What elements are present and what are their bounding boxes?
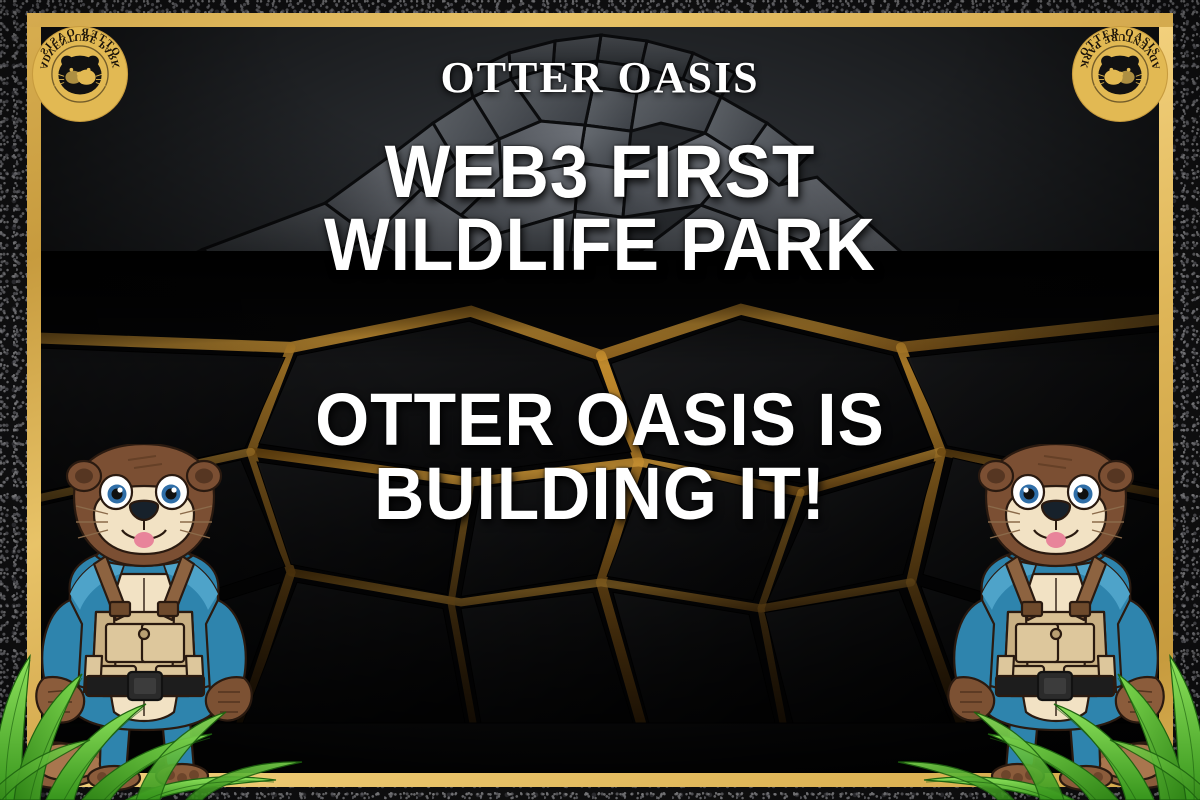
headline: WEB3 FIRST WILDLIFE PARK [36,136,1164,281]
otter-oasis-promo-poster: OTTER OASIS ADVENTURE PARK [0,0,1200,800]
brand-title: OTTER OASIS [0,52,1200,103]
headline-line-1: WEB3 FIRST [36,136,1164,209]
headline-line-2: WILDLIFE PARK [36,209,1164,282]
otter-mascot-right [922,444,1190,800]
otter-mascot-left [10,444,278,800]
